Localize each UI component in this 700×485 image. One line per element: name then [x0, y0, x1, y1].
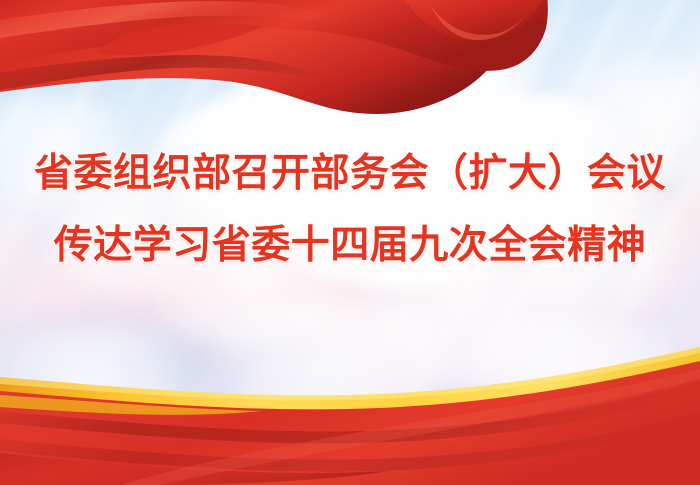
blue-wash	[0, 267, 700, 485]
title-line-1: 省委组织部召开部务会（扩大）会议	[0, 152, 700, 196]
title-line-2: 传达学习省委十四届九次全会精神	[0, 224, 700, 268]
news-banner: 省委组织部召开部务会（扩大）会议 传达学习省委十四届九次全会精神	[0, 0, 700, 485]
banner-title: 省委组织部召开部务会（扩大）会议 传达学习省委十四届九次全会精神	[0, 152, 700, 268]
